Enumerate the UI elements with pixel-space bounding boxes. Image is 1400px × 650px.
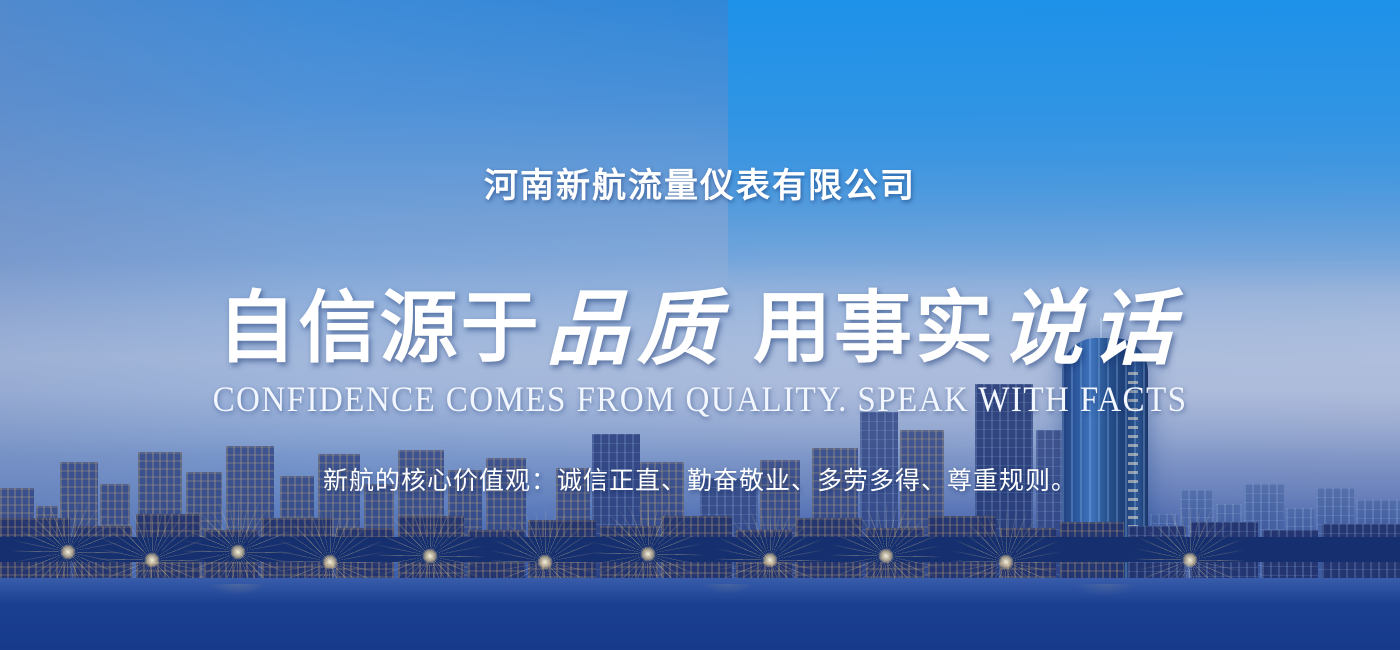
english-subtitle: CONFIDENCE COMES FROM QUALITY. SPEAK WIT… xyxy=(56,378,1344,420)
headline-part-4: 说话 xyxy=(1000,281,1182,377)
headline: 自信源于 品质 用事实 说话 xyxy=(0,262,1400,381)
company-name: 河南新航流量仪表有限公司 xyxy=(0,158,1400,207)
hero-banner: 河南新航流量仪表有限公司 自信源于 品质 用事实 说话 CONFIDENCE C… xyxy=(0,0,1400,650)
headline-part-2: 品质 xyxy=(546,281,728,377)
core-values-tagline: 新航的核心价值观：诚信正直、勤奋敬业、多劳多得、尊重规则。 xyxy=(0,461,1400,497)
banner-copy: 河南新航流量仪表有限公司 自信源于 品质 用事实 说话 CONFIDENCE C… xyxy=(0,0,1400,650)
headline-part-3: 用事实 xyxy=(753,284,996,374)
headline-part-1: 自信源于 xyxy=(218,284,542,374)
